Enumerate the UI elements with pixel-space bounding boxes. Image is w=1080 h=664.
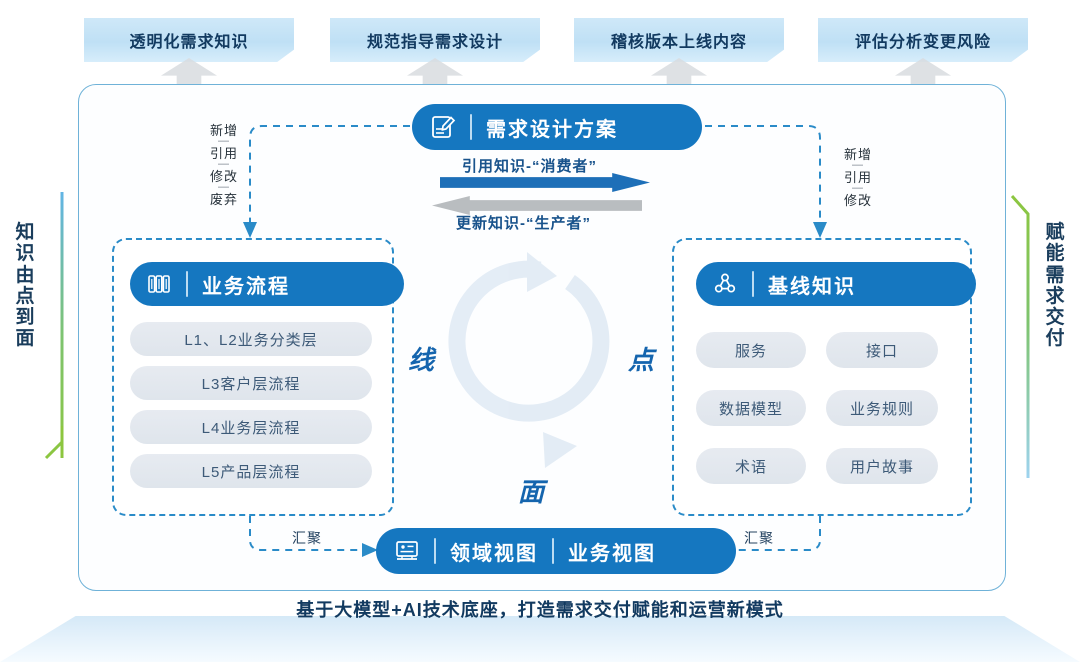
chip-label: L5产品层流程 — [202, 461, 301, 482]
baseline-knowledge-item[interactable]: 用户故事 — [826, 448, 938, 484]
center-label-line: 线 — [408, 340, 435, 377]
design-plan-pill[interactable]: 需求设计方案 — [412, 104, 702, 150]
chip-label: L4业务层流程 — [202, 417, 301, 438]
right-op-item: 修改 — [832, 194, 884, 207]
footer-suffix: +AI技术底座，打造需求交付赋能和运营新模式 — [391, 600, 784, 620]
pill-divider — [434, 538, 436, 564]
pill-divider — [552, 538, 554, 564]
footer-highlight: 大模型 — [334, 600, 391, 620]
baseline-knowledge-item[interactable]: 数据模型 — [696, 390, 806, 426]
business-process-item[interactable]: L5产品层流程 — [130, 454, 372, 488]
pill-divider — [470, 114, 472, 140]
converge-label-left: 汇聚 — [292, 528, 322, 548]
chip-label: 业务规则 — [850, 398, 914, 419]
views-bar-pill[interactable]: 领域视图 业务视图 — [376, 528, 736, 574]
diagram-canvas: 透明化需求知识 规范指导需求设计 稽核版本上线内容 评估分析变更风险 知识由点到… — [0, 0, 1080, 664]
chip-label: 服务 — [735, 340, 767, 361]
flow-book-icon — [146, 271, 172, 297]
footer-banner — [0, 616, 1080, 662]
business-process-item[interactable]: L3客户层流程 — [130, 366, 372, 400]
footer-prefix: 基于 — [296, 600, 334, 620]
chip-label: L3客户层流程 — [202, 373, 301, 394]
center-label-plane: 面 — [518, 472, 545, 509]
center-label-point: 点 — [628, 340, 655, 377]
left-operations-list: 新增 — 引用 — 修改 — 废弃 — [198, 124, 250, 206]
right-operations-list: 新增 — 引用 — 修改 — [832, 148, 884, 207]
baseline-knowledge-item[interactable]: 接口 — [826, 332, 938, 368]
baseline-knowledge-item[interactable]: 服务 — [696, 332, 806, 368]
domain-view-label: 领域视图 — [450, 537, 538, 566]
chip-label: 术语 — [735, 456, 767, 477]
consume-knowledge-label: 引用知识-“消费者” — [462, 155, 597, 176]
left-op-item: 废弃 — [198, 193, 250, 206]
baseline-knowledge-item[interactable]: 术语 — [696, 448, 806, 484]
business-process-label: 业务流程 — [202, 270, 290, 299]
baseline-knowledge-label: 基线知识 — [768, 270, 856, 299]
chip-label: 用户故事 — [850, 456, 914, 477]
recycle-node-icon — [712, 271, 738, 297]
design-plan-label: 需求设计方案 — [486, 113, 618, 142]
baseline-knowledge-pill[interactable]: 基线知识 — [696, 262, 976, 306]
footer-text: 基于大模型+AI技术底座，打造需求交付赋能和运营新模式 — [0, 596, 1080, 622]
view-board-icon — [394, 538, 420, 564]
business-view-label: 业务视图 — [568, 537, 656, 566]
business-process-item[interactable]: L1、L2业务分类层 — [130, 322, 372, 356]
business-process-pill[interactable]: 业务流程 — [130, 262, 404, 306]
produce-knowledge-label: 更新知识-“生产者” — [456, 212, 591, 233]
pill-divider — [186, 271, 188, 297]
baseline-knowledge-item[interactable]: 业务规则 — [826, 390, 938, 426]
pill-divider — [752, 271, 754, 297]
document-edit-icon — [430, 114, 456, 140]
business-process-item[interactable]: L4业务层流程 — [130, 410, 372, 444]
chip-label: L1、L2业务分类层 — [184, 329, 317, 350]
chip-label: 接口 — [866, 340, 898, 361]
chip-label: 数据模型 — [719, 398, 783, 419]
converge-label-right: 汇聚 — [744, 528, 774, 548]
